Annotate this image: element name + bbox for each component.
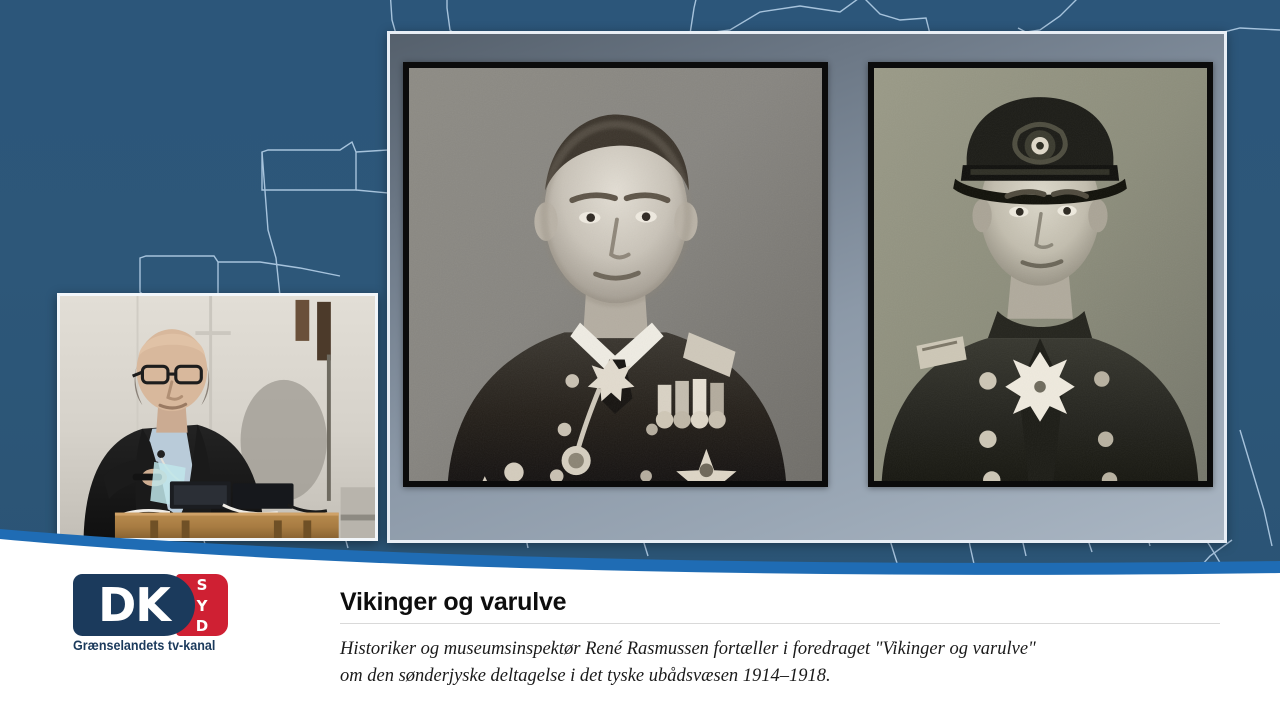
title-divider [340,623,1220,624]
logo-letter-y: Y [197,599,208,614]
presentation-slide[interactable] [387,31,1227,543]
dk-syd-logo[interactable]: DK S Y D Grænselandets tv-kanal [73,574,228,659]
page-title: Vikinger og varulve [340,588,566,617]
logo-letter-d: D [196,619,208,634]
slide-content [390,34,1224,540]
logo-letter-s: S [197,578,208,593]
video-stage: DK S Y D Grænselandets tv-kanal Vikinger… [0,0,1280,720]
photo-senior-naval-officer [403,62,828,487]
logo-dk-text: DK [73,574,195,636]
caption-subtitle-line1: Historiker og museumsinspektør René Rasm… [340,636,1240,663]
logo-mark: DK S Y D [73,574,228,636]
caption-subtitle: Historiker og museumsinspektør René Rasm… [340,636,1240,690]
logo-tagline: Grænselandets tv-kanal [73,638,222,653]
caption-subtitle-line2: om den sønderjyske deltagelse i det tysk… [340,663,1240,690]
photo-young-u-boat-officer [868,62,1213,487]
logo-syd-text: S Y D [181,578,223,634]
